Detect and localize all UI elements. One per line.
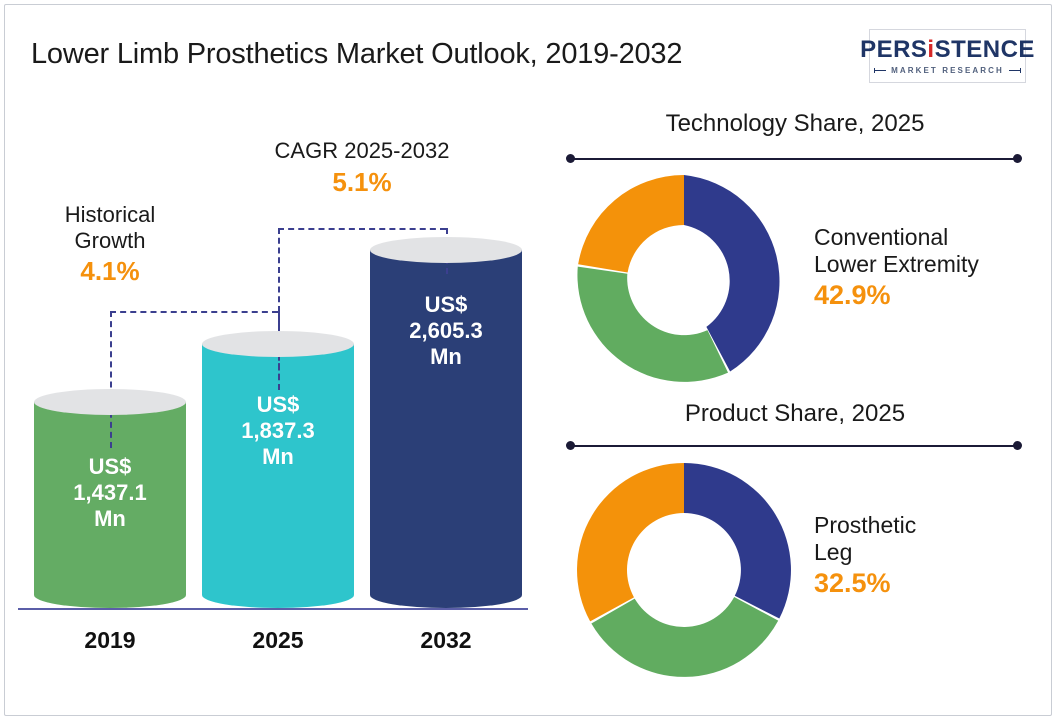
infographic-canvas: Lower Limb Prosthetics Market Outlook, 2…	[0, 0, 1056, 720]
bar-2025-value-label: US$ 1,837.3 Mn	[202, 392, 354, 470]
bar-2019-category-label: 2019	[34, 627, 186, 654]
technology-share-rule	[570, 158, 1020, 160]
historical-growth-label-line1: Historical	[25, 202, 195, 228]
product-share-block: Product Share, 2025 Prosthetic Leg 32.5%	[550, 400, 1040, 700]
technology-share-rule-dot-left-icon	[566, 154, 575, 163]
bar-2032-value-label: US$ 2,605.3 Mn	[370, 292, 522, 370]
bar-2019-value-label: US$ 1,437.1 Mn	[34, 454, 186, 532]
historical-growth-annotation: Historical Growth 4.1%	[25, 202, 195, 287]
cagr-annotation: CAGR 2025-2032 5.1%	[227, 138, 497, 198]
bar-2025-top-cap	[202, 331, 354, 357]
bar-chart-baseline	[18, 608, 528, 610]
product-share-donut	[574, 460, 794, 680]
product-share-rule-dot-right-icon	[1013, 441, 1022, 450]
technology-share-legend: Conventional Lower Extremity 42.9%	[814, 224, 1040, 311]
historical-growth-label-line2: Growth	[25, 228, 195, 254]
technology-share-legend-percent: 42.9%	[814, 280, 1040, 311]
product-share-rule	[570, 445, 1020, 447]
product-share-legend: Prosthetic Leg 32.5%	[814, 512, 1040, 599]
historical-growth-value: 4.1%	[25, 256, 195, 287]
bar-chart-panel: US$ 1,437.1 Mn 2019 US$ 1,837.3 Mn 2025 …	[0, 90, 545, 690]
product-share-rule-dot-left-icon	[566, 441, 575, 450]
technology-share-legend-line2: Lower Extremity	[814, 251, 1040, 278]
donut2-slice-orange	[577, 463, 684, 621]
bar-2025-category-label: 2025	[202, 627, 354, 654]
logo-tagline: MARKET RESEARCH	[891, 67, 1004, 75]
logo-wordmark-part2: STENCE	[935, 36, 1035, 63]
product-share-heading: Product Share, 2025	[550, 400, 1040, 428]
technology-share-rule-dot-right-icon	[1013, 154, 1022, 163]
logo-wordmark-part1: PERS	[860, 36, 927, 63]
historical-connector-top	[110, 311, 278, 313]
cagr-label: CAGR 2025-2032	[227, 138, 497, 164]
logo-wordmark-i: i	[927, 36, 934, 63]
logo-tagline-wrap: MARKET RESEARCH	[874, 67, 1021, 75]
page-title: Lower Limb Prosthetics Market Outlook, 2…	[31, 38, 682, 71]
donut2-slice-green	[591, 597, 778, 677]
product-share-legend-line2: Leg	[814, 539, 1040, 566]
bar-2032-category-label: 2032	[370, 627, 522, 654]
donut1-slice-orange	[578, 175, 684, 272]
bar-2032: US$ 2,605.3 Mn 2032	[370, 250, 522, 608]
logo-wordmark: PERSiSTENCE	[860, 38, 1035, 62]
product-share-legend-line1: Prosthetic	[814, 512, 1040, 539]
cagr-value: 5.1%	[227, 167, 497, 198]
logo-rule-left-icon	[874, 70, 886, 71]
technology-share-block: Technology Share, 2025 Conventional Lowe…	[550, 110, 1040, 410]
cagr-connector-top	[278, 228, 446, 230]
bar-2032-top-cap	[370, 237, 522, 263]
technology-share-heading: Technology Share, 2025	[550, 110, 1040, 138]
technology-share-donut	[574, 172, 794, 392]
cagr-connector-left-stem	[278, 228, 280, 390]
historical-connector-left-stem	[110, 311, 112, 448]
brand-logo: PERSiSTENCE MARKET RESEARCH	[869, 29, 1026, 83]
technology-share-legend-line1: Conventional	[814, 224, 1040, 251]
donut1-slice-green	[577, 267, 728, 382]
bar-2019-top-cap	[34, 389, 186, 415]
product-share-legend-percent: 32.5%	[814, 568, 1040, 599]
donut2-slice-navy	[684, 463, 791, 619]
logo-rule-right-icon	[1009, 70, 1021, 71]
